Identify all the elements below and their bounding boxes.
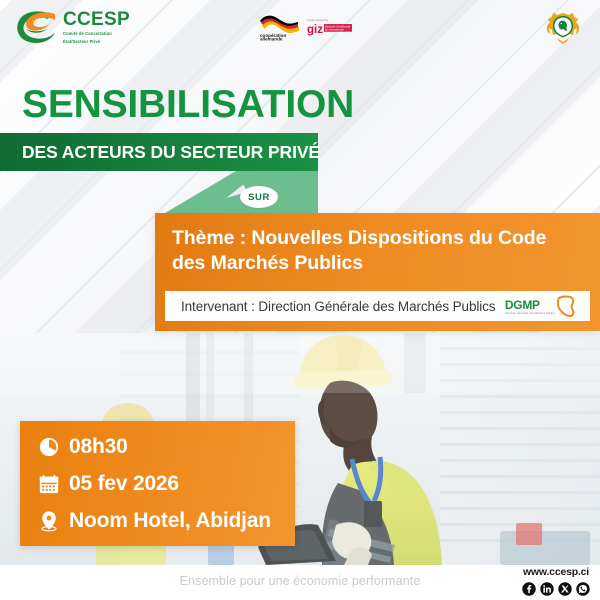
german-cooperation-logo-icon: coopération allemande <box>258 12 300 42</box>
ccesp-subtitle-line1: Comité de Concertation <box>63 31 130 37</box>
footer: Ensemble pour une économie performante w… <box>0 565 600 600</box>
event-location-value: Noom Hotel, Abidjan <box>69 509 271 533</box>
svg-text:giz: giz <box>307 24 323 36</box>
footer-tagline: Ensemble pour une économie performante <box>0 574 600 588</box>
theme-card: Thème : Nouvelles Dispositions du Code d… <box>155 213 600 331</box>
event-date-row: 05 fev 2026 <box>20 465 295 502</box>
whatsapp-icon[interactable] <box>576 582 590 596</box>
theme-text: Thème : Nouvelles Dispositions du Code d… <box>172 226 584 277</box>
website-url[interactable]: www.ccesp.ci <box>522 567 590 579</box>
location-pin-icon <box>38 510 60 532</box>
sur-badge: SUR <box>240 186 278 208</box>
partner-logos: coopération allemande Implemented by giz… <box>258 12 353 42</box>
sur-badge-label: SUR <box>248 192 270 203</box>
dgmp-caption: Direction Générale des Marchés Publics <box>505 312 555 315</box>
ccesp-subtitle-line2: État/Secteur Privé <box>63 39 130 45</box>
svg-text:Implemented by: Implemented by <box>307 18 329 22</box>
event-time-row: 08h30 <box>20 428 295 465</box>
event-location-row: Noom Hotel, Abidjan <box>20 502 295 539</box>
event-time-value: 08h30 <box>69 435 128 459</box>
cote-divoire-map-icon <box>556 295 576 318</box>
poster-subtitle: DES ACTEURS DU SECTEUR PRIVÉ <box>22 142 320 163</box>
subtitle-banner: DES ACTEURS DU SECTEUR PRIVÉ <box>0 133 318 171</box>
footer-contact: www.ccesp.ci <box>522 567 590 596</box>
green-chevron-shape <box>0 171 600 219</box>
svg-text:Zusammenarbeit (GIZ) GmbH: Zusammenarbeit (GIZ) GmbH <box>325 31 353 34</box>
svg-text:allemande: allemande <box>260 36 283 41</box>
clock-icon <box>38 436 60 458</box>
cote-divoire-coat-of-arms-icon <box>543 9 583 49</box>
dgmp-logo[interactable]: DGMP Direction Générale des Marchés Publ… <box>505 295 576 318</box>
event-info-card: 08h30 05 fev 2026 <box>20 421 295 546</box>
header-logo-bar: CCESP Comité de Concertation État/Secteu… <box>0 0 600 58</box>
x-twitter-icon[interactable] <box>558 582 572 596</box>
social-links <box>522 582 590 596</box>
poster-title: SENSIBILISATION <box>22 83 354 127</box>
ccesp-name: CCESP <box>63 10 130 29</box>
speaker-text: Intervenant : Direction Générale des Mar… <box>181 299 495 314</box>
facebook-icon[interactable] <box>522 582 536 596</box>
calendar-icon <box>38 473 60 495</box>
speaker-bar: Intervenant : Direction Générale des Mar… <box>165 291 590 321</box>
event-date-value: 05 fev 2026 <box>69 472 179 496</box>
ccesp-leaf-logo-icon <box>14 10 58 44</box>
linkedin-icon[interactable] <box>540 582 554 596</box>
event-poster: CCESP Comité de Concertation État/Secteu… <box>0 0 600 600</box>
ccesp-logo[interactable]: CCESP Comité de Concertation État/Secteu… <box>14 10 130 44</box>
dgmp-word: DGMP <box>505 299 555 311</box>
giz-logo-icon: Implemented by giz Deutsche Gesellschaft… <box>307 14 353 40</box>
